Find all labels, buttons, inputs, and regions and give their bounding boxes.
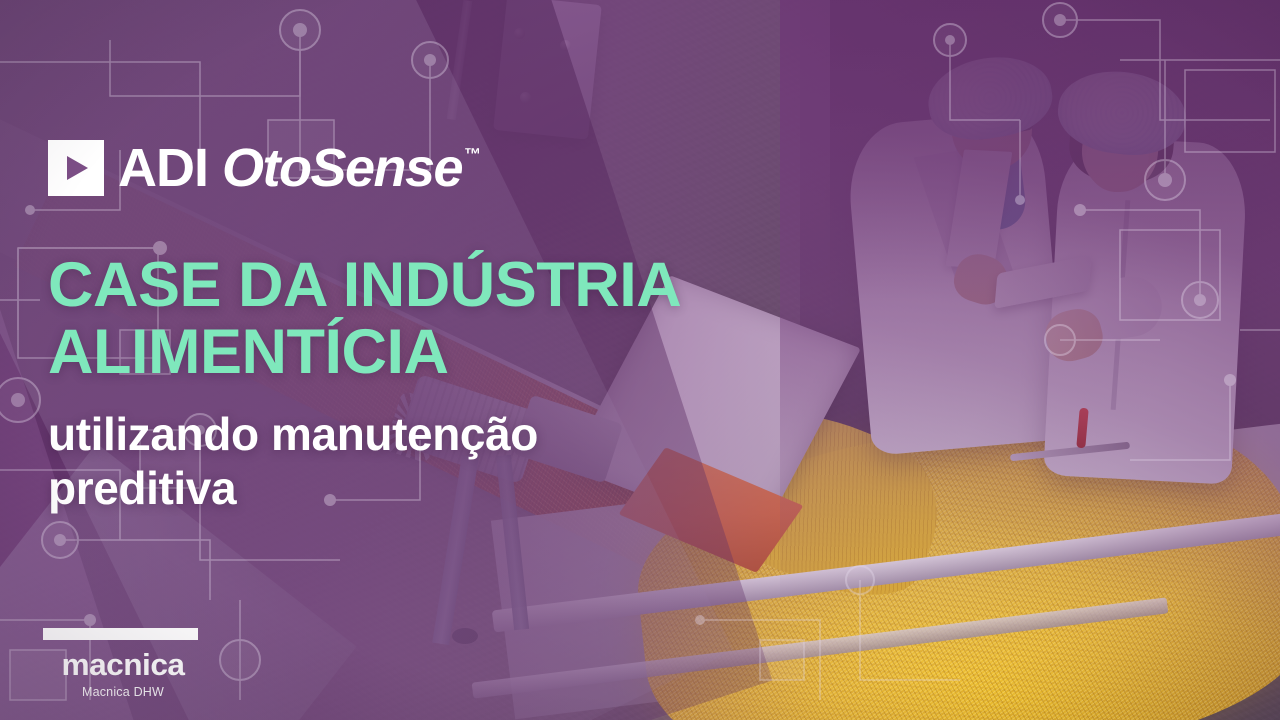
- macnica-logo-bar: [43, 628, 198, 640]
- page-headline: CASE DA INDÚSTRIA ALIMENTÍCIA: [48, 252, 828, 386]
- page-subheadline: utilizando manutenção preditiva: [48, 408, 728, 516]
- adi-otosense-logo: ADI OtoSense ™: [48, 140, 479, 196]
- play-triangle-icon: [48, 140, 104, 196]
- promotional-banner: ADI OtoSense ™ CASE DA INDÚSTRIA ALIMENT…: [0, 0, 1280, 720]
- macnica-logo: macnica Macnica DHW: [43, 628, 203, 699]
- brand-name-secondary: OtoSense: [222, 141, 462, 195]
- brand-name-primary: ADI: [118, 141, 208, 195]
- trademark-symbol: ™: [464, 146, 481, 163]
- macnica-wordmark: macnica: [41, 649, 204, 680]
- macnica-subtitle: Macnica DHW: [43, 686, 203, 699]
- brand-wordmark: ADI OtoSense ™: [118, 141, 479, 195]
